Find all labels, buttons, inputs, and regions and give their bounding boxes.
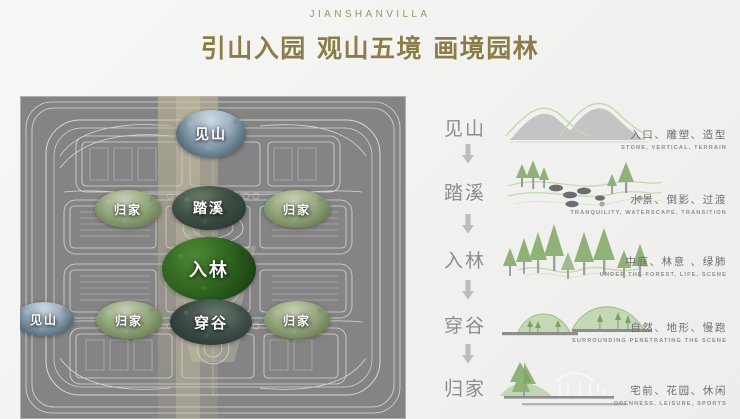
caption-cn: 入口、雕塑、造型 [552,127,727,142]
brand-eyebrow: JIANSHANVILLA [0,9,740,20]
caption-en: SURROUNDING PENETRATING THE SCENE [530,338,727,344]
stage-label-taoxi: 踏溪 [444,178,510,205]
caption-cn: 水景、倒影、过渡 [532,192,727,207]
badge-label: 穿谷 [194,312,228,333]
caption-guijia: 宅前、花园、休闲 OPENNESS, LEISURE, SPORTS [558,383,727,407]
badge-label: 归家 [283,312,311,329]
plan-badge-guijia-left-lower[interactable]: 归家 [96,301,162,339]
badge-label: 归家 [115,312,143,329]
caption-en: OPENNESS, LEISURE, SPORTS [558,401,727,407]
caption-taoxi: 水景、倒影、过渡 TRANQUILITY, WATERSCAPE, TRANSI… [532,192,727,216]
badge-label: 见山 [30,311,58,328]
badge-label: 见山 [195,124,227,144]
caption-jianshan: 入口、雕塑、造型 STONE, VERTICAL, TERRAIN [552,127,727,151]
caption-en: STONE, VERTICAL, TERRAIN [552,145,727,151]
plan-badge-chuangu[interactable]: 穿谷 [170,299,252,345]
caption-cn: 自然、地形、慢跑 [530,320,727,335]
arrow-down-icon-4 [460,344,476,364]
plan-badge-rulin[interactable]: 入林 [162,237,256,301]
caption-en: TRANQUILITY, WATERSCAPE, TRANSITION [532,210,727,216]
page-title: 引山入园 观山五境 画境园林 [0,29,740,65]
badge-label: 归家 [114,201,142,218]
arrow-down-icon-2 [460,214,476,234]
plan-badge-guijia-right-upper[interactable]: 归家 [264,190,330,228]
badge-label: 入林 [189,256,229,282]
badge-label: 归家 [283,201,311,218]
caption-en: UNDER THE FOREST, LIFE, SCENE [560,272,727,278]
caption-rulin: 中庭、林意 、绿肺 UNDER THE FOREST, LIFE, SCENE [560,254,727,278]
plan-badge-jianshan-left[interactable]: 见山 [20,302,74,336]
plan-badge-guijia-left-upper[interactable]: 归家 [95,190,161,228]
stage-label-jianshan: 见山 [444,114,510,141]
journey-panel: 见山 入口、雕塑、造型 STONE, VERTICAL, TERRAIN 踏溪 [432,96,732,419]
arrow-down-icon-1 [460,144,476,164]
site-plan: 见山 踏溪 归家 归家 入林 穿谷 见山 归家 [20,96,406,419]
slide-root: JIANSHANVILLA 引山入园 观山五境 画境园林 [0,0,740,419]
plan-badge-guijia-right-lower[interactable]: 归家 [264,301,330,339]
caption-chuangu: 自然、地形、慢跑 SURROUNDING PENETRATING THE SCE… [530,320,727,344]
arrow-down-icon-3 [460,280,476,300]
caption-cn: 中庭、林意 、绿肺 [560,254,727,269]
badge-label: 踏溪 [193,198,225,218]
caption-cn: 宅前、花园、休闲 [558,383,727,398]
plan-badge-jianshan-top[interactable]: 见山 [176,110,246,158]
plan-badge-taoxi[interactable]: 踏溪 [172,186,246,230]
